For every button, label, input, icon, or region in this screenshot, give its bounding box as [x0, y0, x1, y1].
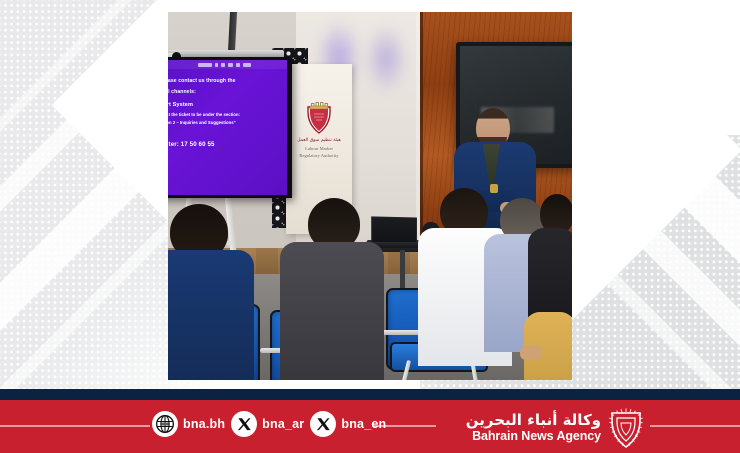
globe-icon	[152, 411, 178, 437]
social-label-x-english: bna_en	[341, 417, 386, 431]
footer-social-links: bna.bh bna_ar bn	[152, 411, 386, 437]
audience-shoulders	[168, 250, 254, 380]
slide-call-center: Call Center: 17 50 60 55	[168, 140, 283, 149]
slide-sub-line-1: Please select the ticket to be under the…	[168, 112, 283, 118]
x-twitter-icon	[231, 411, 257, 437]
social-link-x-english[interactable]: bna_en	[310, 411, 386, 437]
photo-scene: هيئة تنظيم سوق العمل Labour Market Regul…	[168, 12, 572, 380]
x-twitter-icon	[310, 411, 336, 437]
bahrain-emblem-icon	[305, 100, 333, 134]
slide-line-1: uiries, please contact us through the	[168, 78, 283, 86]
slide-taskbar	[168, 60, 287, 69]
banner-org-name-en-line1: Labour Market	[286, 146, 352, 153]
audience-shoulders	[280, 242, 384, 380]
social-label-website: bna.bh	[183, 417, 225, 431]
presenter-badge	[490, 184, 498, 193]
slide-heading: E-Support System	[168, 101, 283, 109]
presentation-slide: uiries, please contact us through the in…	[168, 60, 287, 195]
audience-hand	[520, 346, 542, 360]
footer-divider-left	[0, 425, 150, 427]
page-root: هيئة تنظيم سوق العمل Labour Market Regul…	[0, 0, 740, 453]
brand-lockup: وكالة أنباء البحرين Bahrain News Agency	[466, 408, 644, 448]
brand-name-en: Bahrain News Agency	[466, 430, 601, 443]
banner-org-name-ar: هيئة تنظيم سوق العمل	[286, 138, 352, 143]
brand-name-ar: وكالة أنباء البحرين	[466, 413, 601, 429]
social-link-website[interactable]: bna.bh	[152, 411, 225, 437]
social-link-x-arabic[interactable]: bna_ar	[231, 411, 304, 437]
footer-divider-right	[650, 425, 740, 427]
banner-org-name-en-line2: Regulatory Authority	[286, 153, 352, 160]
footer-bar: bna.bh bna_ar bn	[0, 400, 740, 453]
news-photo: هيئة تنظيم سوق العمل Labour Market Regul…	[168, 12, 572, 380]
accent-bar	[0, 389, 740, 400]
slide-sub-line-2: "WPS Version 2 – Inquiries and Suggestio…	[168, 120, 283, 126]
social-label-x-arabic: bna_ar	[262, 417, 304, 431]
slide-text-block: uiries, please contact us through the in…	[168, 78, 283, 153]
wall-light-glow	[364, 24, 408, 94]
presentation-display: uiries, please contact us through the in…	[168, 57, 292, 198]
slide-line-2: ing official channels:	[168, 89, 283, 97]
bahrain-news-agency-shield-icon	[608, 408, 644, 448]
